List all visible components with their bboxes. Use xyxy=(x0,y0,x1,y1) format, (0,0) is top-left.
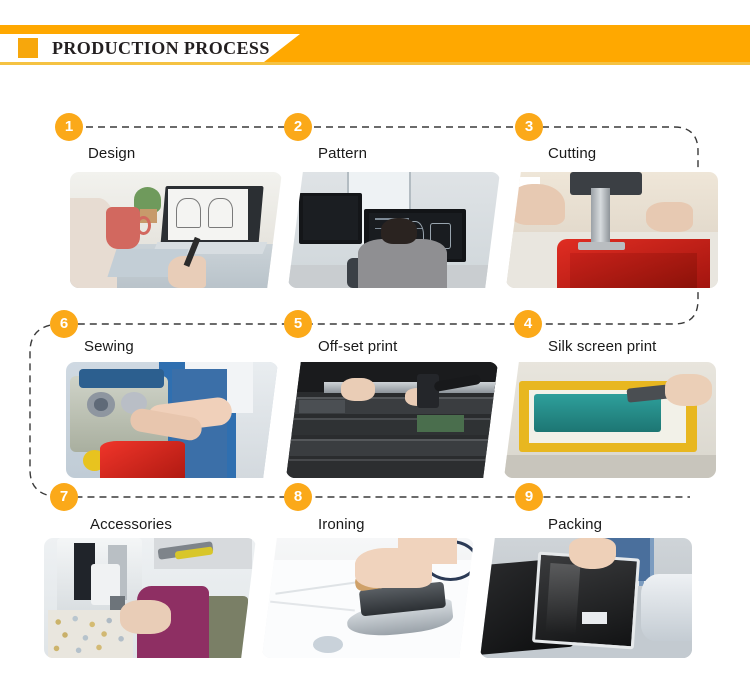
step-badge-9[interactable]: 9 xyxy=(515,483,543,511)
design-photo[interactable] xyxy=(70,172,282,288)
page-header: PRODUCTION PROCESS xyxy=(0,0,750,70)
step-badge-1[interactable]: 1 xyxy=(55,113,83,141)
step-badge-2[interactable]: 2 xyxy=(284,113,312,141)
ironing-photo[interactable] xyxy=(262,538,474,658)
silk-screen-print-photo[interactable] xyxy=(504,362,716,478)
step-badge-5[interactable]: 5 xyxy=(284,310,312,338)
step-badge-7[interactable]: 7 xyxy=(50,483,78,511)
accessories-photo[interactable] xyxy=(44,538,256,658)
step-label-9: Packing xyxy=(548,516,602,533)
step-label-3: Cutting xyxy=(548,145,596,162)
cutting-photo[interactable] xyxy=(506,172,718,288)
step-badge-4[interactable]: 4 xyxy=(514,310,542,338)
step-label-5: Off-set print xyxy=(318,338,397,355)
pattern-photo[interactable] xyxy=(288,172,500,288)
packing-photo[interactable] xyxy=(480,538,692,658)
step-label-6: Sewing xyxy=(84,338,134,355)
page-title: PRODUCTION PROCESS xyxy=(52,34,270,62)
sewing-photo[interactable] xyxy=(66,362,278,478)
step-badge-8[interactable]: 8 xyxy=(284,483,312,511)
step-label-8: Ironing xyxy=(318,516,365,533)
step-label-2: Pattern xyxy=(318,145,367,162)
step-badge-6[interactable]: 6 xyxy=(50,310,78,338)
header-underline xyxy=(0,62,750,65)
step-label-4: Silk screen print xyxy=(548,338,656,355)
header-top-strip xyxy=(0,25,750,34)
step-label-1: Design xyxy=(88,145,135,162)
step-badge-3[interactable]: 3 xyxy=(515,113,543,141)
offset-print-photo[interactable] xyxy=(286,362,498,478)
step-label-7: Accessories xyxy=(90,516,172,533)
header-square-marker-icon xyxy=(18,38,38,58)
